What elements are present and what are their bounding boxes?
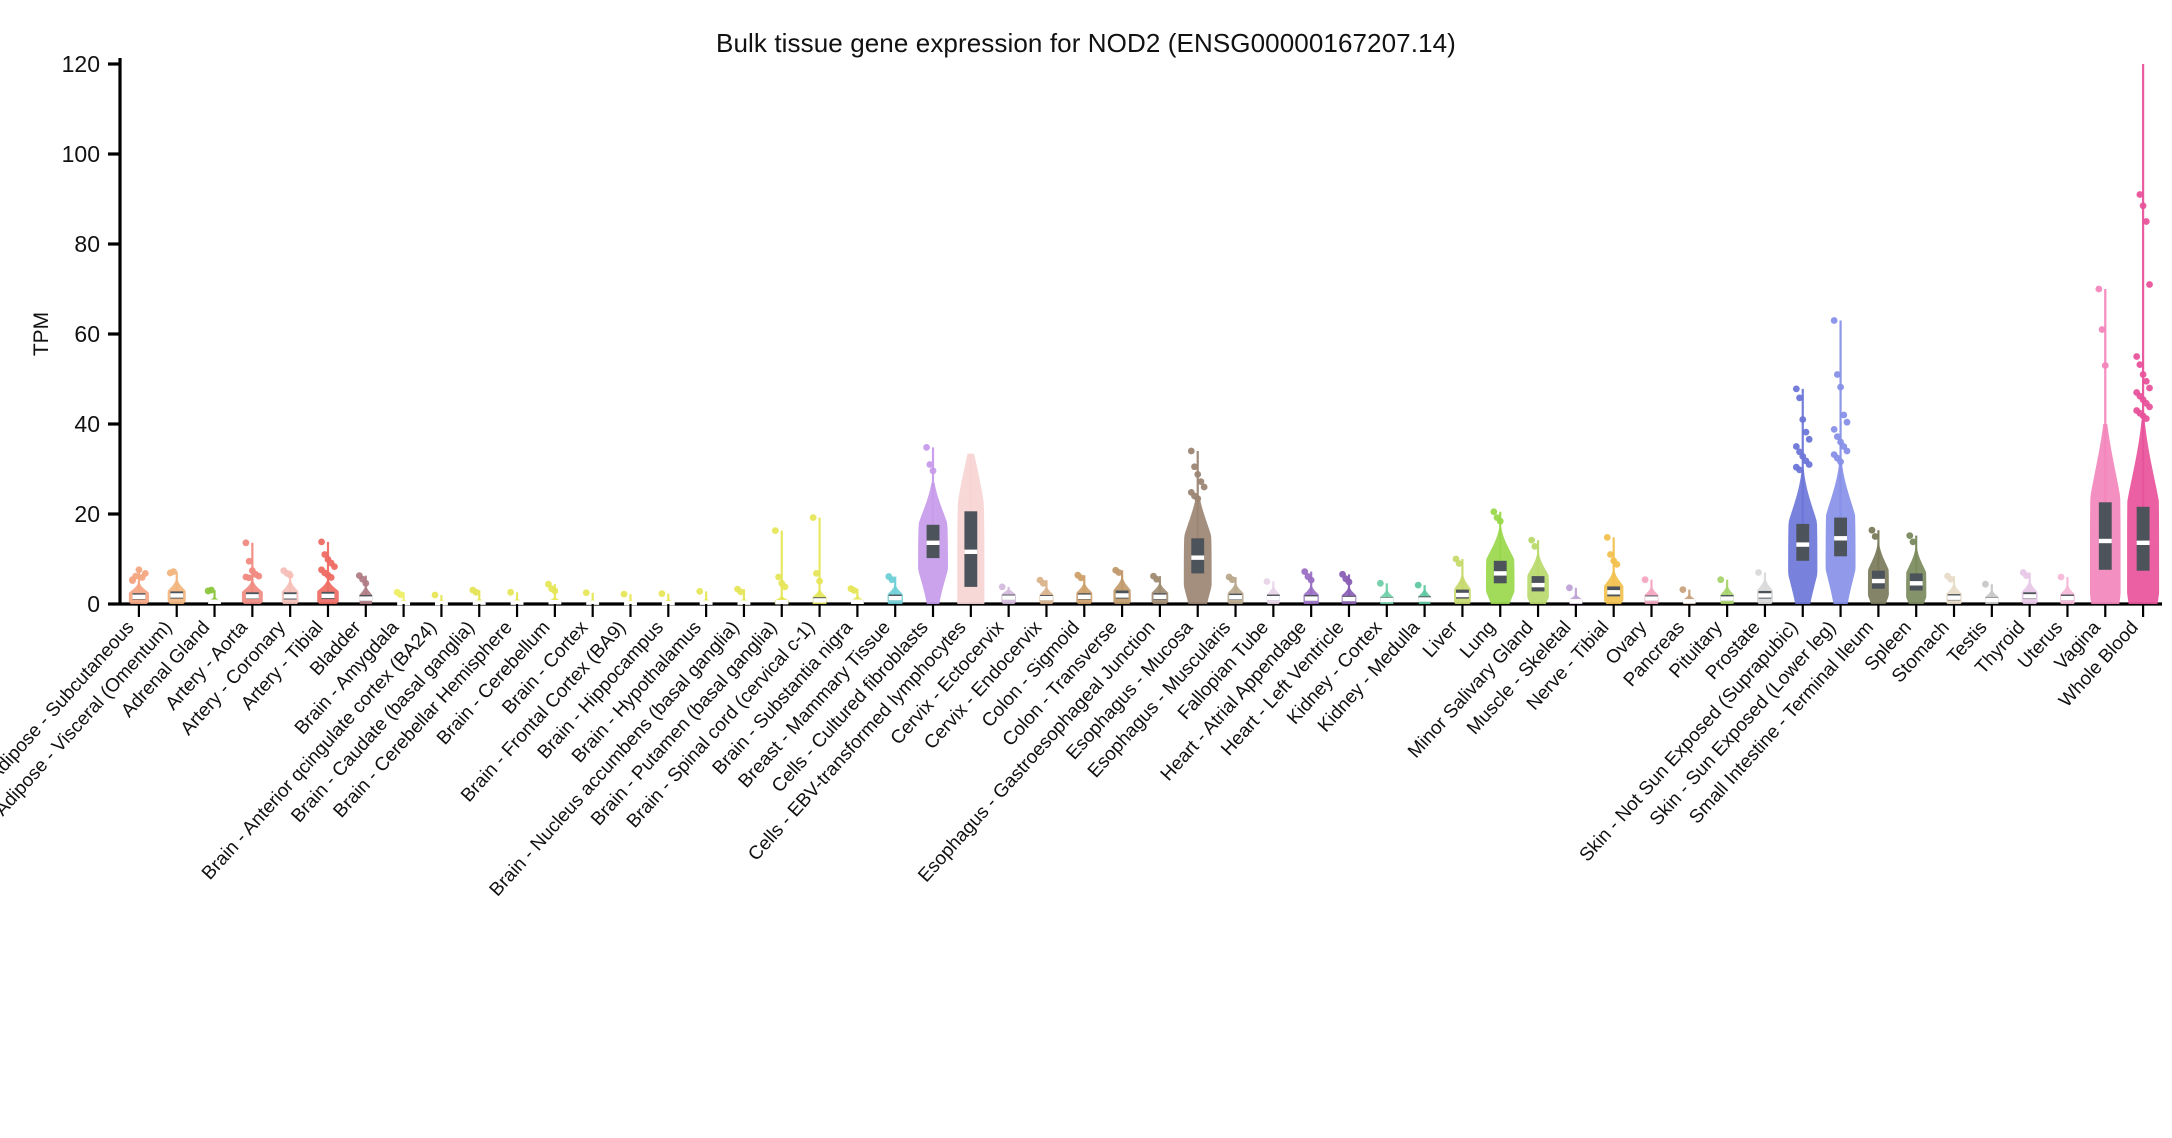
violin-group <box>1037 577 1054 604</box>
violin-group <box>918 444 948 604</box>
outlier-point <box>129 577 136 584</box>
violin-group <box>1074 572 1092 604</box>
outlier-point <box>397 591 404 598</box>
violin-group <box>317 539 339 605</box>
outlier-point <box>1831 426 1838 433</box>
outlier-point <box>1229 576 1236 583</box>
violin-group <box>1453 556 1471 604</box>
outlier-point <box>1377 580 1384 587</box>
outlier-point <box>432 592 439 599</box>
outlier-point <box>2102 362 2109 369</box>
outlier-point <box>1497 518 1504 525</box>
outlier-point <box>1415 582 1422 589</box>
median-marker <box>1948 596 1961 600</box>
median-marker <box>1494 571 1507 575</box>
violin-group <box>848 585 864 604</box>
outlier-point <box>775 574 782 581</box>
outlier-point <box>1264 578 1271 585</box>
outlier-point <box>813 570 820 577</box>
outlier-point <box>243 539 250 546</box>
outlier-point <box>1799 416 1806 423</box>
outlier-point <box>1834 371 1841 378</box>
median-marker <box>1305 596 1318 600</box>
y-axis-title: TPM <box>30 312 53 356</box>
outlier-point <box>2136 191 2143 198</box>
median-marker <box>851 600 864 604</box>
violin-group <box>957 454 984 604</box>
violin-group <box>1604 534 1624 604</box>
outlier-point <box>1642 576 1649 583</box>
y-tick-label: 80 <box>74 231 100 257</box>
outlier-point <box>1806 461 1813 468</box>
outlier-point <box>1531 543 1538 550</box>
violin-group <box>1112 567 1131 604</box>
outlier-point <box>2095 286 2102 293</box>
median-marker <box>1191 555 1204 559</box>
violin-group <box>1944 573 1961 604</box>
outlier-point <box>737 588 744 595</box>
outlier-point <box>1796 467 1803 474</box>
median-marker <box>1002 596 1015 600</box>
median-marker <box>2137 541 2150 545</box>
median-marker <box>1910 581 1923 585</box>
outlier-point <box>331 563 338 570</box>
outlier-point <box>246 558 253 565</box>
median-marker <box>964 550 977 554</box>
outlier-point <box>810 514 817 521</box>
outlier-point <box>1840 412 1847 419</box>
outlier-point <box>170 568 177 575</box>
violin-group <box>772 527 789 604</box>
median-marker <box>1040 596 1053 600</box>
y-tick-label: 120 <box>62 51 100 77</box>
violin-group <box>167 568 186 604</box>
outlier-point <box>136 566 143 573</box>
median-marker <box>1796 542 1809 546</box>
outlier-point <box>246 575 253 582</box>
outlier-point <box>1947 576 1954 583</box>
outlier-point <box>816 578 823 585</box>
median-marker <box>322 594 335 598</box>
median-marker <box>2061 596 2074 600</box>
median-marker <box>2099 539 2112 543</box>
violin-group <box>1527 537 1549 604</box>
outlier-point <box>551 588 558 595</box>
violin-group <box>1717 576 1733 604</box>
outlier-point <box>1837 458 1844 465</box>
violin-group <box>129 566 149 604</box>
outlier-point <box>328 574 335 581</box>
outlier-point <box>1796 395 1803 402</box>
y-tick-label: 60 <box>74 321 100 347</box>
outlier-point <box>930 467 937 474</box>
violin-group <box>1184 448 1212 604</box>
median-marker <box>1569 599 1582 603</box>
iqr-box <box>2099 502 2112 570</box>
violin-group <box>1264 578 1280 604</box>
outlier-point <box>208 587 215 594</box>
outlier-point <box>2058 574 2065 581</box>
outlier-point <box>1613 561 1620 568</box>
outlier-point <box>1679 586 1686 593</box>
outlier-point <box>782 584 789 591</box>
outlier-point <box>999 584 1006 591</box>
outlier-point <box>362 580 369 587</box>
outlier-point <box>1201 484 1208 491</box>
median-marker <box>284 594 297 598</box>
median-marker <box>1834 536 1847 540</box>
outlier-point <box>1194 495 1201 502</box>
outlier-point <box>1844 419 1851 426</box>
outlier-point <box>1844 448 1851 455</box>
outlier-point <box>1755 569 1762 576</box>
x-tick-label: Liver <box>1419 617 1463 662</box>
outlier-point <box>2143 378 2150 385</box>
violin-group <box>885 573 902 604</box>
y-tick-label: 20 <box>74 501 100 527</box>
violin-group <box>242 539 263 604</box>
outlier-point <box>621 591 628 598</box>
median-marker <box>1683 599 1696 603</box>
outlier-point <box>142 570 149 577</box>
outlier-point <box>2146 404 2153 411</box>
chart-root: Bulk tissue gene expression for NOD2 (EN… <box>0 0 2172 1138</box>
outlier-point <box>2143 218 2150 225</box>
violin-group <box>205 587 221 604</box>
violin-group <box>1906 532 1926 604</box>
outlier-point <box>926 461 933 468</box>
violin-group <box>2127 64 2159 604</box>
outlier-point <box>1308 577 1315 584</box>
outlier-point <box>1906 532 1913 539</box>
outlier-point <box>1153 576 1160 583</box>
violin-group <box>1377 580 1393 604</box>
violin-group <box>545 581 561 605</box>
iqr-box <box>2137 507 2150 571</box>
outlier-point <box>1188 448 1195 455</box>
outlier-point <box>1793 386 1800 393</box>
median-marker <box>208 600 221 604</box>
violin-group <box>2020 569 2038 604</box>
violin-group <box>1566 584 1582 604</box>
y-tick-label: 40 <box>74 411 100 437</box>
violin-group <box>1826 317 1856 604</box>
median-marker <box>1418 597 1431 601</box>
x-tick-label: Adipose - Visceral (Omentum) <box>0 617 176 820</box>
outlier-point <box>1115 569 1122 576</box>
outlier-point <box>1982 581 1989 588</box>
violin-group <box>1679 586 1695 604</box>
median-marker <box>1229 595 1242 599</box>
violin-plot: 020406080100120TPMAdipose - Subcutaneous… <box>0 0 2172 1138</box>
outlier-point <box>255 573 262 580</box>
outlier-point <box>583 589 590 596</box>
outlier-point <box>889 576 896 583</box>
median-marker <box>1872 579 1885 583</box>
outlier-point <box>1872 533 1879 540</box>
violin-group <box>469 587 485 605</box>
outlier-point <box>1869 527 1876 534</box>
outlier-point <box>2099 326 2106 333</box>
median-marker <box>1456 593 1469 597</box>
outlier-point <box>1604 534 1611 541</box>
median-marker <box>1985 598 1998 602</box>
outlier-point <box>2140 371 2147 378</box>
iqr-box <box>1796 524 1809 561</box>
outlier-point <box>1456 560 1463 567</box>
median-marker <box>1078 595 1091 599</box>
median-marker <box>889 596 902 600</box>
violin-group <box>1982 581 1998 604</box>
y-tick-label: 100 <box>62 141 100 167</box>
outlier-point <box>2136 361 2143 368</box>
outlier-point <box>1040 580 1047 587</box>
median-marker <box>927 541 940 545</box>
violin-group <box>2090 286 2121 604</box>
violin-group <box>810 514 827 604</box>
violin-group <box>1486 508 1515 604</box>
violin-group <box>1226 574 1244 604</box>
outlier-point <box>1490 508 1497 515</box>
median-marker <box>246 594 259 598</box>
median-marker <box>1343 597 1356 601</box>
violin-group <box>1415 582 1431 604</box>
outlier-point <box>318 539 325 546</box>
outlier-point <box>772 527 779 534</box>
iqr-box <box>964 511 977 587</box>
outlier-point <box>507 589 514 596</box>
violin-group <box>280 567 298 604</box>
median-marker <box>1380 598 1393 602</box>
violin-group <box>1642 576 1659 604</box>
outlier-point <box>1194 471 1201 478</box>
outlier-point <box>1831 317 1838 324</box>
outlier-point <box>1191 463 1198 470</box>
outlier-point <box>923 444 930 451</box>
violin-group <box>1755 569 1773 604</box>
outlier-point <box>287 572 294 579</box>
violin-group <box>1788 386 1817 605</box>
outlier-point <box>1803 429 1810 436</box>
violin-group <box>1301 568 1318 604</box>
violin-group <box>1339 571 1356 604</box>
outlier-point <box>2143 415 2150 422</box>
outlier-point <box>2146 385 2153 392</box>
median-marker <box>1607 590 1620 594</box>
outlier-point <box>473 589 480 596</box>
median-marker <box>170 593 183 597</box>
violin-group <box>1150 573 1168 604</box>
outlier-point <box>851 587 858 594</box>
outlier-point <box>1806 436 1813 443</box>
outlier-point <box>1528 537 1535 544</box>
violin-group <box>999 584 1016 605</box>
median-marker <box>1153 595 1166 599</box>
median-marker <box>2023 594 2036 598</box>
outlier-point <box>696 588 703 595</box>
outlier-point <box>1837 384 1844 391</box>
outlier-point <box>2023 572 2030 579</box>
outlier-point <box>658 590 665 597</box>
median-marker <box>132 595 145 599</box>
median-marker <box>1759 593 1772 597</box>
x-tick-label: Adipose - Subcutaneous <box>0 617 139 785</box>
outlier-point <box>2140 202 2147 209</box>
median-marker <box>359 596 372 600</box>
y-tick-label: 0 <box>87 591 100 617</box>
median-marker <box>1267 596 1280 600</box>
violin-group <box>1868 527 1889 604</box>
median-marker <box>775 600 788 604</box>
median-marker <box>1721 596 1734 600</box>
outlier-point <box>2146 281 2153 288</box>
outlier-point <box>2133 353 2140 360</box>
median-marker <box>548 600 561 604</box>
median-marker <box>813 598 826 602</box>
violin-group <box>2058 574 2075 604</box>
violin-group <box>734 586 750 605</box>
median-marker <box>1532 583 1545 587</box>
median-marker <box>1645 596 1658 600</box>
outlier-point <box>1717 576 1724 583</box>
violin-group <box>356 572 372 604</box>
outlier-point <box>1566 584 1573 591</box>
outlier-point <box>1910 539 1917 546</box>
outlier-point <box>1346 579 1353 586</box>
violin-group <box>696 588 712 605</box>
outlier-point <box>1078 575 1085 582</box>
median-marker <box>1116 593 1129 597</box>
outlier-point <box>1607 551 1614 558</box>
